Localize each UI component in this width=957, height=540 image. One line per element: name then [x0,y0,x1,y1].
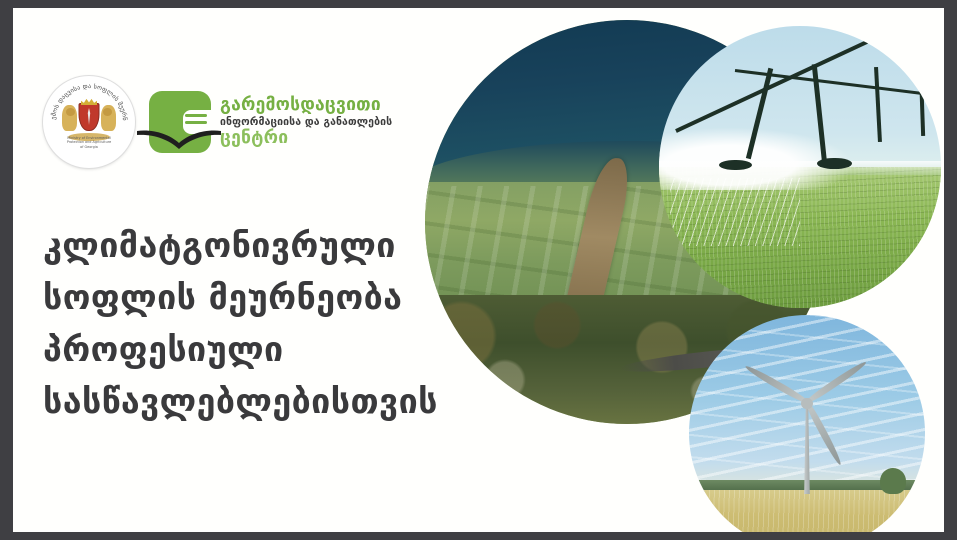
turbine-hub [801,398,813,410]
logo-wordmark: გარემოსდაცვითი ინფორმაციისა და განათლები… [220,96,392,148]
page-title: კლიმატგონივრული სოფლის მეურნეობა პროფესი… [43,220,473,428]
slide-canvas: საქართველოს გარემოს დაცვისა და სოფლის მე… [13,8,944,532]
title-line-2: სოფლის მეურნეობა [43,272,473,324]
seal-eng-line-3: of Georgia [57,145,121,149]
title-line-3: პროფესიული [43,324,473,376]
logo-line-2: ინფორმაციისა და განათლების [220,116,392,128]
seal-english-text: Ministry of Environmental Protection and… [43,136,135,149]
logo-line-1: გარემოსდაცვითი [220,96,392,115]
shield-with-saint-george [79,103,100,131]
lion-supporter-right [101,105,116,131]
center-pivot-boom [676,49,941,179]
logo-line-3: ცენტრი [220,129,392,148]
open-book-in-green-square-icon [149,91,211,153]
lion-supporter-left [62,105,77,131]
slide-frame: საქართველოს გარემოს დაცვისა და სოფლის მე… [0,0,957,540]
title-line-4: სასწავლებლებისთვის [43,376,473,428]
irrigation-spray-jets [670,178,800,246]
title-line-1: კლიმატგონივრული [43,220,473,272]
coat-of-arms-icon [61,103,117,139]
irrigation-photo-circle [659,26,941,308]
logo-row: საქართველოს გარემოს დაცვისა და სოფლის მე… [43,76,392,168]
wind-turbine-photo-circle [689,315,925,532]
ministry-seal: საქართველოს გარემოს დაცვისა და სოფლის მე… [43,76,135,168]
wind-wheat-field [689,490,925,532]
open-book-icon [135,125,223,155]
environmental-information-and-education-centre-logo: გარემოსდაცვითი ინფორმაციისა და განათლები… [149,91,392,153]
wind-bush [880,468,906,494]
